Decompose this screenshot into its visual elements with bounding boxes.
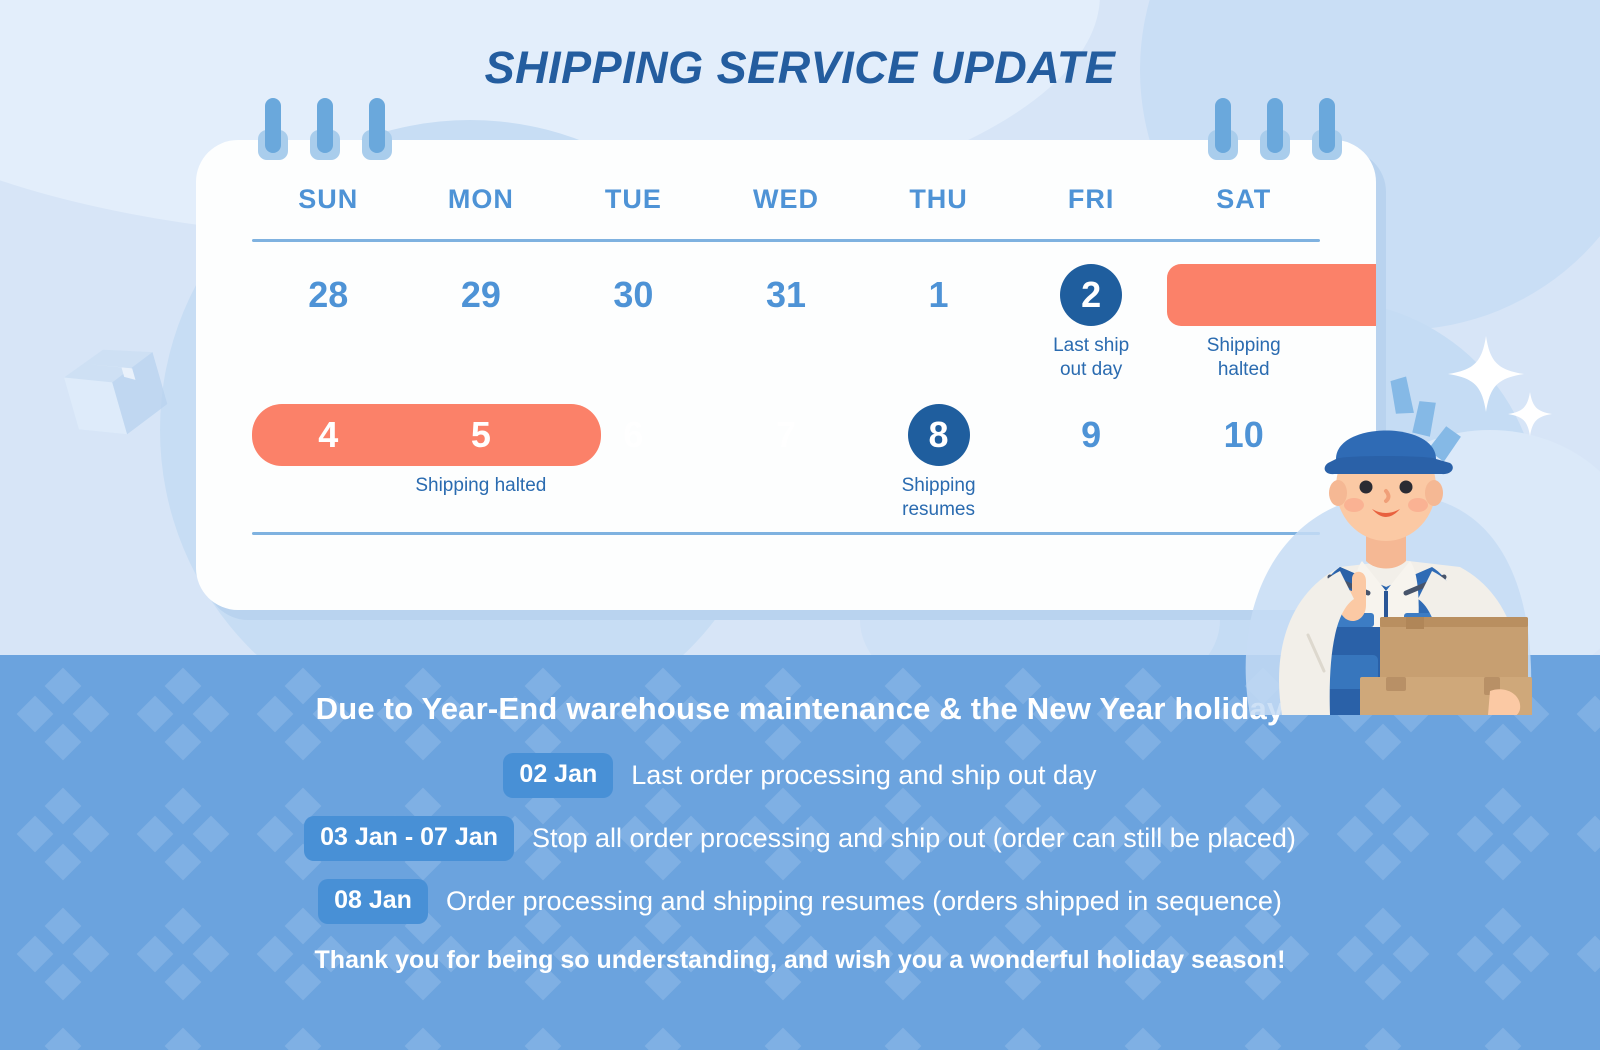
calendar-day-cell-halted[interactable]: 4 <box>252 404 405 522</box>
day-number: 9 <box>1015 404 1168 466</box>
binder-rings-right <box>1208 98 1342 160</box>
date-description: Last order processing and ship out day <box>631 760 1096 791</box>
calendar-day-cell[interactable]: 30 <box>557 264 710 382</box>
binder-ring-icon <box>310 98 340 160</box>
panel-thanks-message: Thank you for being so understanding, an… <box>0 946 1600 975</box>
calendar-bottom-rule <box>252 532 1320 535</box>
date-description: Stop all order processing and ship out (… <box>532 823 1296 854</box>
binder-ring-icon <box>362 98 392 160</box>
panel-line-item: 02 Jan Last order processing and ship ou… <box>0 753 1600 798</box>
panel-line-item: 03 Jan - 07 Jan Stop all order processin… <box>0 816 1600 861</box>
calendar-day-cell[interactable]: 28 <box>252 264 405 382</box>
binder-ring-icon <box>258 98 288 160</box>
calendar-top-rule <box>252 239 1320 242</box>
calendar-day-cell[interactable]: 1 <box>862 264 1015 382</box>
binder-ring-icon <box>1312 98 1342 160</box>
calendar-day-cell[interactable]: 9 <box>1015 404 1168 522</box>
panel-line-list: 02 Jan Last order processing and ship ou… <box>0 753 1600 924</box>
day-number-highlight: 5 <box>405 404 558 466</box>
day-header-fri: FRI <box>1015 184 1168 215</box>
date-chip: 03 Jan - 07 Jan <box>304 816 514 861</box>
calendar-day-headers: SUN MON TUE WED THU FRI SAT <box>252 184 1320 215</box>
page-title: SHIPPING SERVICE UPDATE <box>0 42 1600 94</box>
binder-rings-left <box>258 98 392 160</box>
day-number-highlight: 8 <box>908 404 970 466</box>
calendar-day-cell-halted[interactable]: 7 <box>710 404 863 522</box>
day-number: 30 <box>557 264 710 326</box>
day-number: 31 <box>710 264 863 326</box>
day-note: Last shipout day <box>1015 334 1168 382</box>
binder-ring-icon <box>1260 98 1290 160</box>
date-chip: 08 Jan <box>318 879 428 924</box>
package-box-icon <box>50 330 180 460</box>
day-header-sat: SAT <box>1167 184 1320 215</box>
day-header-sun: SUN <box>252 184 405 215</box>
panel-line-item: 08 Jan Order processing and shipping res… <box>0 879 1600 924</box>
calendar-day-cell-resumes[interactable]: 8 Shippingresumes <box>862 404 1015 522</box>
day-number: 28 <box>252 264 405 326</box>
calendar-day-cell-halted[interactable]: 6 <box>557 404 710 522</box>
calendar-week-row-1: 28 29 30 31 1 2 Last shipout day 3 Shipp… <box>252 264 1320 382</box>
calendar-week-row-2: 4 5 Shipping halted 6 7 8 Shippingresume… <box>252 404 1320 522</box>
delivery-person-icon <box>1190 355 1580 720</box>
calendar-day-cell[interactable]: 29 <box>405 264 558 382</box>
calendar-day-cell[interactable]: 31 <box>710 264 863 382</box>
day-number: 1 <box>862 264 1015 326</box>
day-note: Shippingresumes <box>862 474 1015 522</box>
date-chip: 02 Jan <box>503 753 613 798</box>
day-header-tue: TUE <box>557 184 710 215</box>
day-header-wed: WED <box>710 184 863 215</box>
day-number-highlight: 2 <box>1060 264 1122 326</box>
binder-ring-icon <box>1208 98 1238 160</box>
day-number: 29 <box>405 264 558 326</box>
date-description: Order processing and shipping resumes (o… <box>446 886 1282 917</box>
day-header-mon: MON <box>405 184 558 215</box>
day-number-highlight: 4 <box>252 404 405 466</box>
day-number-highlight: 7 <box>710 404 863 466</box>
day-header-thu: THU <box>862 184 1015 215</box>
calendar-day-cell-last-ship[interactable]: 2 Last shipout day <box>1015 264 1168 382</box>
day-number-highlight: 6 <box>557 404 710 466</box>
calendar-day-cell-halted[interactable]: 5 Shipping halted <box>405 404 558 522</box>
shipping-halted-band <box>1167 264 1376 326</box>
